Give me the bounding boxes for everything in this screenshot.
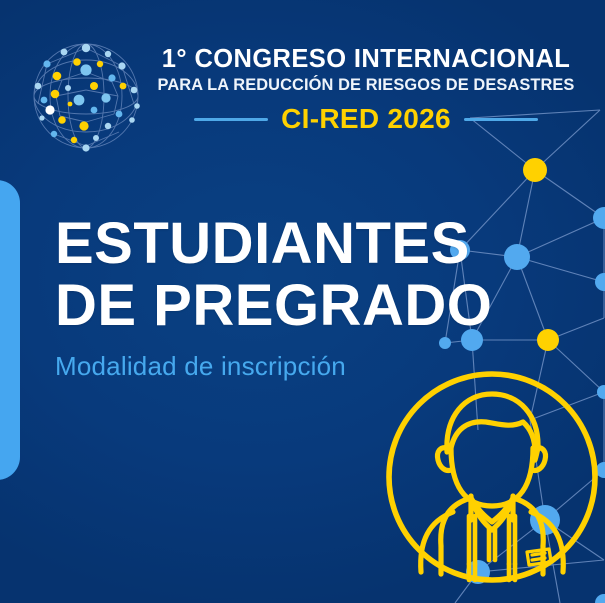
poster-canvas: 1° CONGRESO INTERNACIONAL PARA LA REDUCC… xyxy=(0,0,605,603)
main-content-block: ESTUDIANTES DE PREGRADO Modalidad de ins… xyxy=(55,216,485,382)
poster-header: 1° CONGRESO INTERNACIONAL PARA LA REDUCC… xyxy=(0,0,605,165)
event-code-label: CI-RED 2026 xyxy=(281,103,451,135)
student-avatar-icon xyxy=(383,368,601,586)
rule-left xyxy=(194,118,268,121)
event-code-row: CI-RED 2026 xyxy=(146,103,586,135)
left-blue-tab xyxy=(0,180,20,480)
headline-line-1: ESTUDIANTES xyxy=(55,216,485,272)
congress-title-line2: PARA LA REDUCCIÓN DE RIESGOS DE DESASTRE… xyxy=(146,76,586,96)
headline-line-2: DE PREGRADO xyxy=(55,278,485,334)
network-sphere-logo xyxy=(24,34,149,159)
rule-right xyxy=(464,118,538,121)
congress-title-line1: 1° CONGRESO INTERNACIONAL xyxy=(146,46,586,74)
header-text-block: 1° CONGRESO INTERNACIONAL PARA LA REDUCC… xyxy=(146,46,586,135)
